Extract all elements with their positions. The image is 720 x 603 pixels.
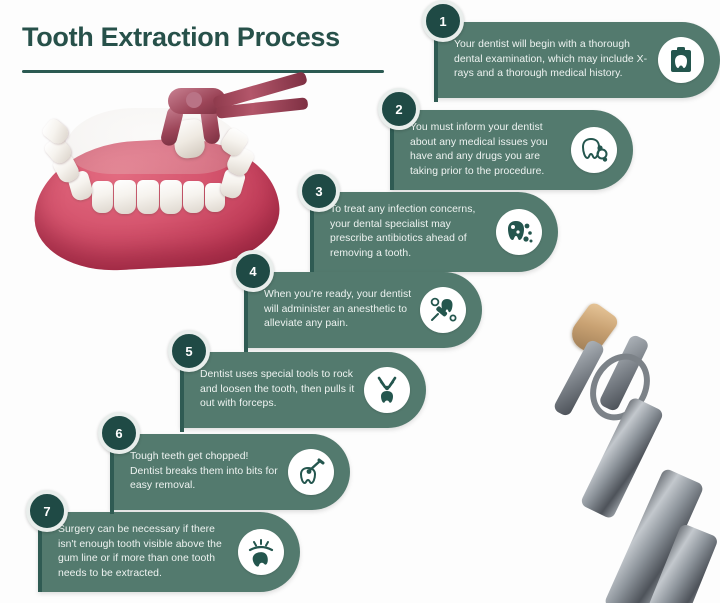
forceps-pivot-screw (186, 92, 202, 108)
title-underline (22, 70, 384, 73)
step-number-badge: 2 (378, 88, 420, 130)
step-card-body[interactable]: 5 Dentist uses special tools to rock and… (180, 352, 426, 428)
step-number-badge: 4 (232, 250, 274, 292)
step-number-badge: 6 (98, 412, 140, 454)
step-text: To treat any infection concerns, your de… (310, 201, 492, 263)
step-text: Dentist uses special tools to rock and l… (180, 366, 360, 414)
step-card-body[interactable]: 7 Surgery can be necessary if there isn'… (38, 512, 300, 592)
step-card-body[interactable]: 1 Your dentist will begin with a thoroug… (434, 22, 720, 98)
page-title: Tooth Extraction Process (22, 22, 340, 53)
step-text: Tough teeth get chopped! Dentist breaks … (110, 448, 284, 496)
tooth-front (160, 180, 182, 214)
step-card-7[interactable]: 7 Surgery can be necessary if there isn'… (38, 512, 300, 592)
step-text: You must inform your dentist about any m… (390, 119, 567, 181)
syringe-anesthetic-icon (420, 287, 466, 333)
step-text: When you're ready, your dentist will adm… (244, 286, 416, 334)
extraction-forceps-image (540, 290, 720, 603)
tooth-front (183, 181, 204, 213)
decayed-tooth-bacteria-icon (496, 209, 542, 255)
step-card-body[interactable]: 2 You must inform your dentist about any… (390, 110, 633, 190)
step-card-2[interactable]: 2 You must inform your dentist about any… (390, 110, 633, 190)
clipboard-tooth-icon (658, 37, 704, 83)
tooth-front (114, 180, 136, 214)
dental-drill-tooth-icon (288, 449, 334, 495)
step-text: Your dentist will begin with a thorough … (434, 36, 654, 84)
step-card-body[interactable]: 3 To treat any infection concerns, your … (310, 192, 558, 272)
step-card-4[interactable]: 4 When you're ready, your dentist will a… (244, 272, 482, 348)
forceps-tooth-icon (364, 367, 410, 413)
step-card-5[interactable]: 5 Dentist uses special tools to rock and… (180, 352, 426, 428)
tooth-front (137, 180, 159, 214)
step-number-badge: 5 (168, 330, 210, 372)
infographic-canvas: Tooth Extraction Process (0, 0, 720, 603)
step-number-badge: 1 (422, 0, 464, 42)
tooth-front (92, 181, 113, 213)
dental-jaw-model-image (26, 88, 316, 278)
step-number-badge: 7 (26, 490, 68, 532)
step-number-badge: 3 (298, 170, 340, 212)
step-text: Surgery can be necessary if there isn't … (38, 521, 234, 583)
step-card-body[interactable]: 4 When you're ready, your dentist will a… (244, 272, 482, 348)
step-card-1[interactable]: 1 Your dentist will begin with a thoroug… (434, 22, 720, 98)
step-card-3[interactable]: 3 To treat any infection concerns, your … (310, 192, 558, 272)
step-card-6[interactable]: 6 Tough teeth get chopped! Dentist break… (110, 434, 350, 510)
step-card-body[interactable]: 6 Tough teeth get chopped! Dentist break… (110, 434, 350, 510)
tooth-pills-icon (571, 127, 617, 173)
impacted-tooth-gum-icon (238, 529, 284, 575)
